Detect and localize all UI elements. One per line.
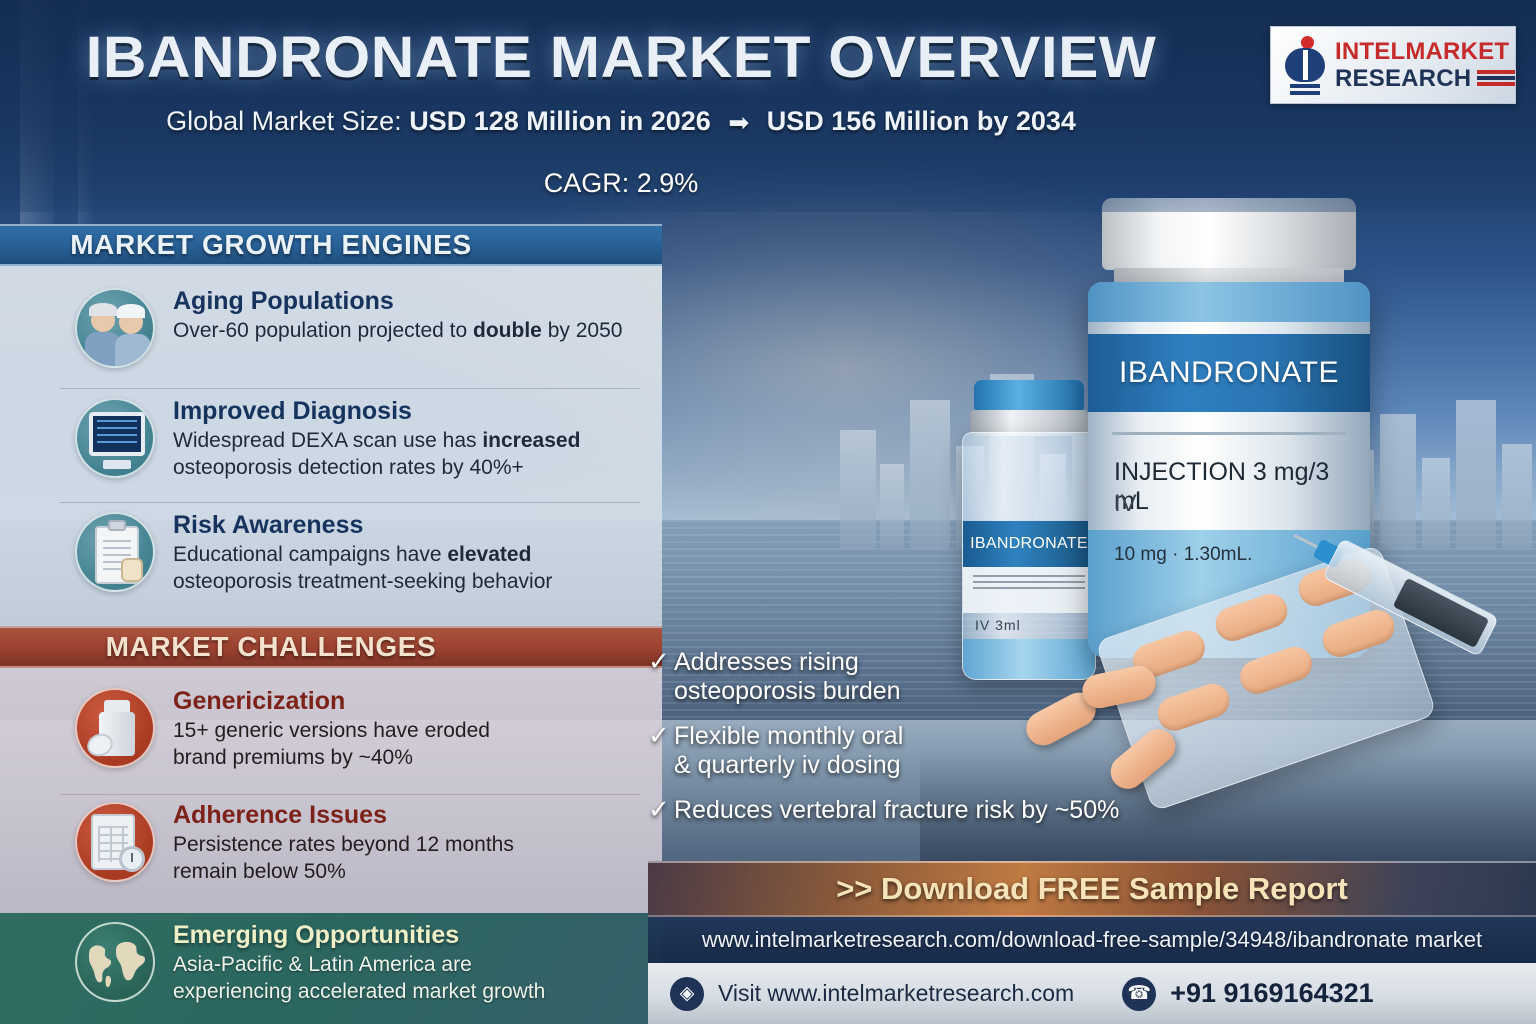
growth-item-body: Widespread DEXA scan use has increased o… — [173, 428, 580, 482]
logo-text-intelmarket: INTELMARKET — [1335, 40, 1515, 64]
emerging-heading: Emerging Opportunities — [173, 922, 545, 948]
growth-item-body: Educational campaigns have elevated oste… — [173, 542, 552, 596]
ibandronate-vial: IBANDRONATE IV 3ml — [956, 380, 1102, 680]
phone-icon: ☎ — [1122, 977, 1156, 1011]
emerging-body: Asia-Pacific & Latin America are experie… — [173, 952, 545, 1006]
growth-body-pre: Over-60 population projected to — [173, 319, 473, 342]
elderly-couple-icon — [75, 288, 155, 368]
growth-item-heading: Aging Populations — [173, 288, 622, 314]
list-item: ✓ Flexible monthly oral & quarterly iv d… — [648, 722, 1188, 780]
growth-body-pre: Widespread DEXA scan use has — [173, 429, 482, 452]
sample-report-url: www.intelmarketresearch.com/download-fre… — [702, 927, 1482, 953]
market-size-line: Global Market Size: USD 128 Million in 2… — [96, 106, 1146, 138]
emerging-body-line2: experiencing accelerated market growth — [173, 980, 545, 1003]
check-icon: ✓ — [648, 722, 674, 748]
vial-label-name: IBANDRONATE — [963, 521, 1095, 567]
list-item: Adherence Issues Persistence rates beyon… — [75, 802, 655, 886]
globe-icon: ◈ — [670, 977, 704, 1011]
growth-body-line2: osteoporosis treatment-seeking behavior — [173, 570, 552, 593]
bottle-product-name: IBANDRONATE — [1119, 356, 1339, 390]
list-item: ✓ Addresses rising osteoporosis burden — [648, 648, 1188, 706]
bottle-name-band: IBANDRONATE — [1088, 334, 1370, 412]
pill-bottle-icon — [75, 688, 155, 768]
clipboard-check-icon — [75, 512, 155, 592]
vial-label-fineprint — [963, 567, 1095, 613]
infographic-root: IBANDRONATE IV 3ml IBANDRONATE INJECTION… — [0, 0, 1536, 1024]
page-title: IBANDRONATE MARKET OVERVIEW — [75, 24, 1167, 91]
vial-cap — [974, 380, 1084, 414]
section-header-growth: MARKET GROWTH ENGINES — [0, 224, 662, 266]
benefit-text: Addresses rising osteoporosis burden — [674, 648, 901, 706]
challenge-body-line1: 15+ generic versions have eroded — [173, 719, 490, 742]
brand-logo[interactable]: INTELMARKET RESEARCH — [1270, 26, 1516, 104]
cagr-value: 2.9% — [637, 168, 699, 198]
footer-bar: ◈ Visit www.intelmarketresearch.com ☎ +9… — [648, 963, 1536, 1024]
growth-item-body: Over-60 population projected to double b… — [173, 318, 622, 345]
check-icon: ✓ — [648, 796, 674, 822]
challenge-item-heading: Genericization — [173, 688, 490, 714]
dexa-monitor-icon — [75, 398, 155, 478]
list-item: Improved Diagnosis Widespread DEXA scan … — [75, 398, 655, 482]
divider — [60, 794, 640, 795]
vial-label-text: IBANDRONATE — [970, 535, 1088, 553]
benefits-checklist: ✓ Addresses rising osteoporosis burden ✓… — [648, 648, 1188, 841]
list-item: Aging Populations Over-60 population pro… — [75, 288, 655, 368]
globe-icon — [75, 922, 155, 1002]
flag-icon — [1477, 69, 1515, 89]
list-item: Emerging Opportunities Asia-Pacific & La… — [75, 922, 655, 1006]
growth-body-bold: double — [473, 319, 542, 342]
challenge-body-line2: brand premiums by ~40% — [173, 746, 413, 769]
section-title-challenges: MARKET CHALLENGES — [0, 631, 662, 663]
divider — [60, 388, 640, 389]
section-header-challenges: MARKET CHALLENGES — [0, 626, 662, 668]
market-size-label: Global Market Size: — [166, 106, 402, 136]
footer-phone[interactable]: +91 9169164321 — [1170, 978, 1373, 1009]
benefit-text: Reduces vertebral fracture risk by ~50% — [674, 796, 1119, 825]
bottle-route-line: IV — [1114, 490, 1137, 518]
list-item: Genericization 15+ generic versions have… — [75, 688, 655, 772]
growth-body-bold: increased — [482, 429, 580, 452]
download-sample-label: >> Download FREE Sample Report — [836, 871, 1348, 907]
bottle-label-rule — [1112, 432, 1346, 435]
market-size-start: USD 128 Million in 2026 — [409, 106, 711, 136]
challenge-body-line2: remain below 50% — [173, 860, 346, 883]
sample-report-url-band[interactable]: www.intelmarketresearch.com/download-fre… — [648, 917, 1536, 963]
lightbulb-icon — [1281, 34, 1329, 96]
download-sample-button[interactable]: >> Download FREE Sample Report — [648, 861, 1536, 917]
vial-glass: IBANDRONATE IV 3ml — [962, 432, 1096, 680]
list-item: ✓ Reduces vertebral fracture risk by ~50… — [648, 796, 1188, 825]
benefit-text: Flexible monthly oral & quarterly iv dos… — [674, 722, 903, 780]
growth-body-line2: osteoporosis detection rates by 40%+ — [173, 456, 524, 479]
cagr-label: CAGR: — [544, 168, 630, 198]
divider — [60, 502, 640, 503]
check-icon: ✓ — [648, 648, 674, 674]
list-item: Risk Awareness Educational campaigns hav… — [75, 512, 655, 596]
cagr-line: CAGR: 2.9% — [96, 168, 1146, 199]
growth-body-bold: elevated — [447, 543, 531, 566]
vial-label-iv: IV 3ml — [975, 617, 1021, 633]
footer-visit-text[interactable]: Visit www.intelmarketresearch.com — [718, 980, 1074, 1007]
growth-body-post: by 2050 — [542, 319, 623, 342]
challenge-item-heading: Adherence Issues — [173, 802, 514, 828]
bottle-top-stripe — [1088, 282, 1370, 322]
growth-body-pre: Educational campaigns have — [173, 543, 447, 566]
challenge-item-body: Persistence rates beyond 12 months remai… — [173, 832, 514, 886]
arrow-right-icon: ➡ — [728, 108, 749, 138]
section-title-growth: MARKET GROWTH ENGINES — [0, 229, 662, 261]
market-size-end: USD 156 Million by 2034 — [767, 106, 1076, 136]
challenge-item-body: 15+ generic versions have eroded brand p… — [173, 718, 490, 772]
bottle-fineprint-line: 10 mg · 1.30mL. — [1114, 544, 1252, 566]
logo-text-research: RESEARCH — [1335, 67, 1471, 91]
bottle-dose-line: INJECTION 3 mg/3 mL — [1114, 458, 1370, 516]
emerging-body-line1: Asia-Pacific & Latin America are — [173, 953, 472, 976]
growth-item-heading: Risk Awareness — [173, 512, 552, 538]
growth-item-heading: Improved Diagnosis — [173, 398, 580, 424]
clipboard-clock-icon — [75, 802, 155, 882]
challenge-body-line1: Persistence rates beyond 12 months — [173, 833, 514, 856]
